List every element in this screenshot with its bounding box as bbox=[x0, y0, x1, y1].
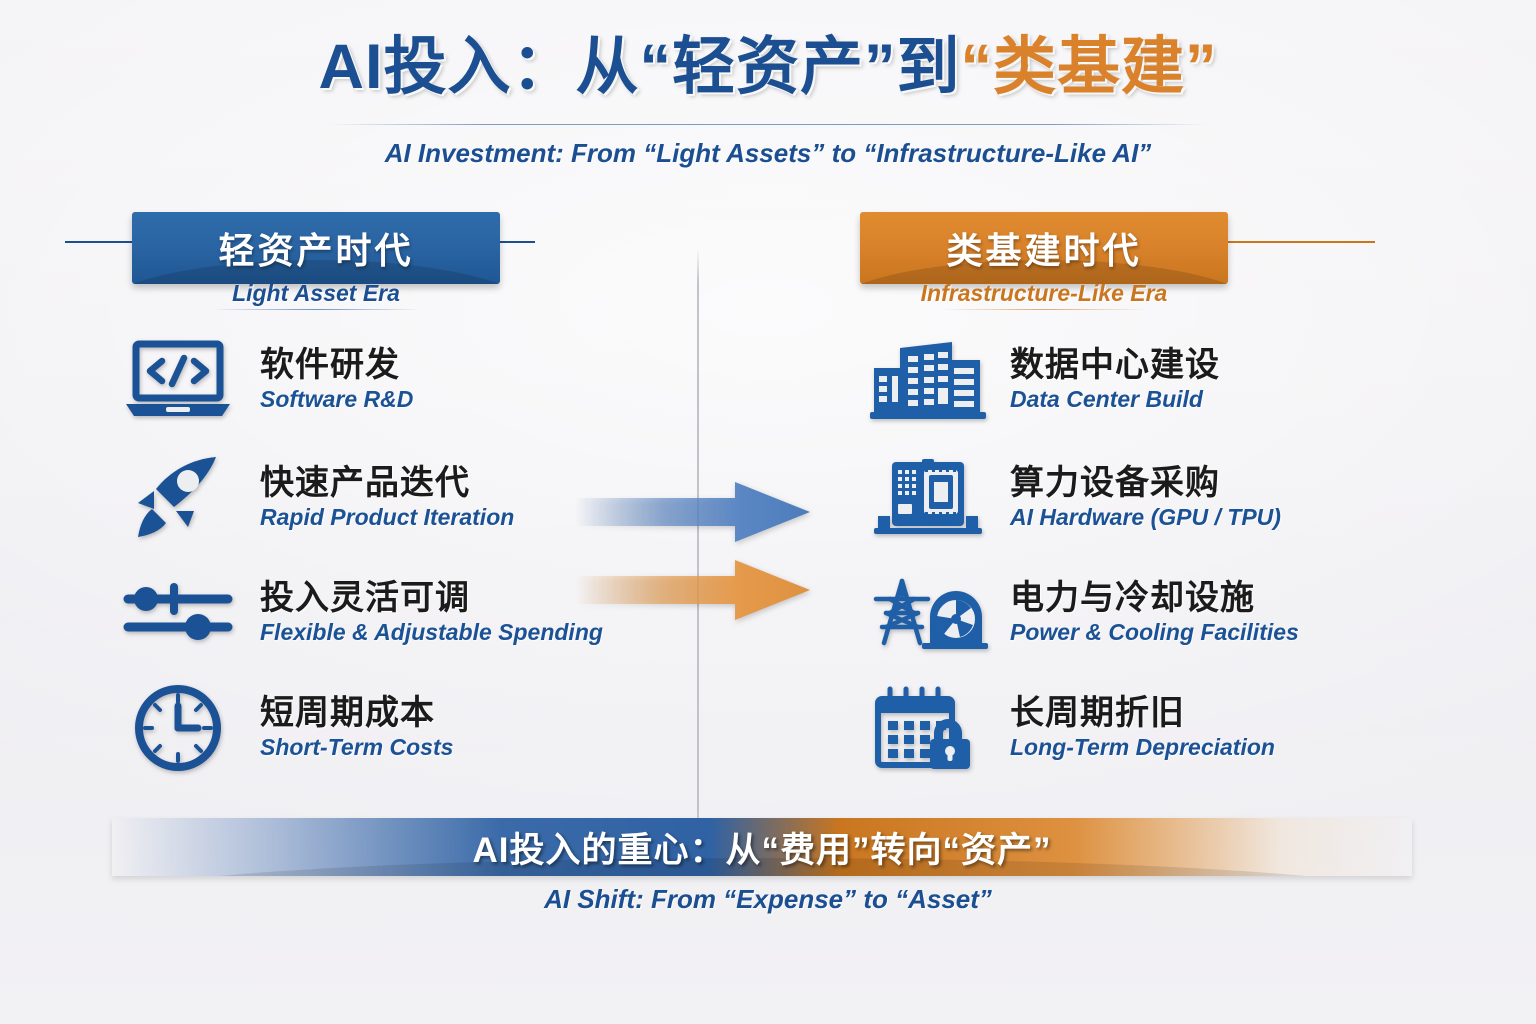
left-era-banner-label: 轻资产时代 bbox=[218, 222, 413, 274]
transition-arrow-orange-icon bbox=[575, 558, 810, 627]
list-item-title-cn: 投入灵活可调 bbox=[260, 579, 603, 617]
footer-subtitle: AI Shift: From “Expense” to “Asset” bbox=[0, 884, 1536, 915]
buildings-icon bbox=[868, 337, 988, 423]
left-era-underline bbox=[211, 309, 421, 310]
footer-band-label: AI投入的重心：从“费用”转向“资产” bbox=[112, 818, 1412, 876]
page-subtitle: AI Investment: From “Light Assets” to “I… bbox=[0, 138, 1536, 169]
page-title: AI投入：从“轻资产”到“类基建” bbox=[0, 34, 1536, 100]
right-era-subtitle: Infrastructure-Like Era bbox=[860, 280, 1228, 307]
right-era-underline bbox=[939, 309, 1149, 310]
laptop-code-icon bbox=[118, 337, 238, 423]
right-era-banner-label: 类基建时代 bbox=[946, 222, 1141, 274]
list-item: 长周期折旧 Long-Term Depreciation bbox=[868, 685, 1275, 771]
transition-arrow-blue-icon bbox=[575, 480, 810, 549]
rocket-icon bbox=[118, 455, 238, 541]
list-item-title-cn: 电力与冷却设施 bbox=[1010, 579, 1299, 617]
title-blue-part: AI投入：从“轻资产”到 bbox=[319, 32, 961, 102]
left-era-banner: 轻资产时代 bbox=[132, 212, 500, 284]
title-divider bbox=[328, 124, 1208, 125]
title-block: AI投入：从“轻资产”到“类基建” bbox=[0, 34, 1536, 100]
server-chip-icon bbox=[868, 455, 988, 541]
sliders-icon bbox=[118, 570, 238, 656]
list-item-title-en: Short-Term Costs bbox=[260, 734, 453, 762]
list-item-title-cn: 短周期成本 bbox=[260, 694, 453, 732]
list-item-text: 电力与冷却设施 Power & Cooling Facilities bbox=[1010, 579, 1299, 647]
list-item: 投入灵活可调 Flexible & Adjustable Spending bbox=[118, 570, 603, 656]
list-item-title-en: AI Hardware (GPU / TPU) bbox=[1010, 504, 1281, 532]
list-item-text: 长周期折旧 Long-Term Depreciation bbox=[1010, 694, 1275, 762]
list-item: 数据中心建设 Data Center Build bbox=[868, 337, 1220, 423]
right-era-banner: 类基建时代 bbox=[860, 212, 1228, 284]
list-item: 短周期成本 Short-Term Costs bbox=[118, 685, 453, 771]
list-item-text: 算力设备采购 AI Hardware (GPU / TPU) bbox=[1010, 464, 1281, 532]
title-orange-part: “类基建” bbox=[961, 32, 1218, 102]
list-item: 快速产品迭代 Rapid Product Iteration bbox=[118, 455, 514, 541]
list-item-title-en: Rapid Product Iteration bbox=[260, 504, 514, 532]
left-era-subtitle: Light Asset Era bbox=[132, 280, 500, 307]
list-item-title-en: Software R&D bbox=[260, 386, 413, 414]
list-item-title-en: Power & Cooling Facilities bbox=[1010, 619, 1299, 647]
list-item-title-en: Flexible & Adjustable Spending bbox=[260, 619, 603, 647]
list-item-title-cn: 长周期折旧 bbox=[1010, 694, 1275, 732]
clock-icon bbox=[118, 685, 238, 771]
list-item-text: 软件研发 Software R&D bbox=[260, 346, 413, 414]
list-item-title-en: Long-Term Depreciation bbox=[1010, 734, 1275, 762]
list-item-text: 投入灵活可调 Flexible & Adjustable Spending bbox=[260, 579, 603, 647]
list-item: 算力设备采购 AI Hardware (GPU / TPU) bbox=[868, 455, 1281, 541]
infographic-canvas: AI投入：从“轻资产”到“类基建” AI Investment: From “L… bbox=[0, 0, 1536, 1024]
list-item: 软件研发 Software R&D bbox=[118, 337, 413, 423]
list-item: 电力与冷却设施 Power & Cooling Facilities bbox=[868, 570, 1299, 656]
pylon-fan-icon bbox=[868, 570, 988, 656]
list-item-text: 短周期成本 Short-Term Costs bbox=[260, 694, 453, 762]
list-item-text: 快速产品迭代 Rapid Product Iteration bbox=[260, 464, 514, 532]
list-item-title-cn: 算力设备采购 bbox=[1010, 464, 1281, 502]
calendar-lock-icon bbox=[868, 685, 988, 771]
list-item-title-cn: 快速产品迭代 bbox=[260, 464, 514, 502]
list-item-title-en: Data Center Build bbox=[1010, 386, 1220, 414]
list-item-title-cn: 数据中心建设 bbox=[1010, 346, 1220, 384]
list-item-title-cn: 软件研发 bbox=[260, 346, 413, 384]
list-item-text: 数据中心建设 Data Center Build bbox=[1010, 346, 1220, 414]
